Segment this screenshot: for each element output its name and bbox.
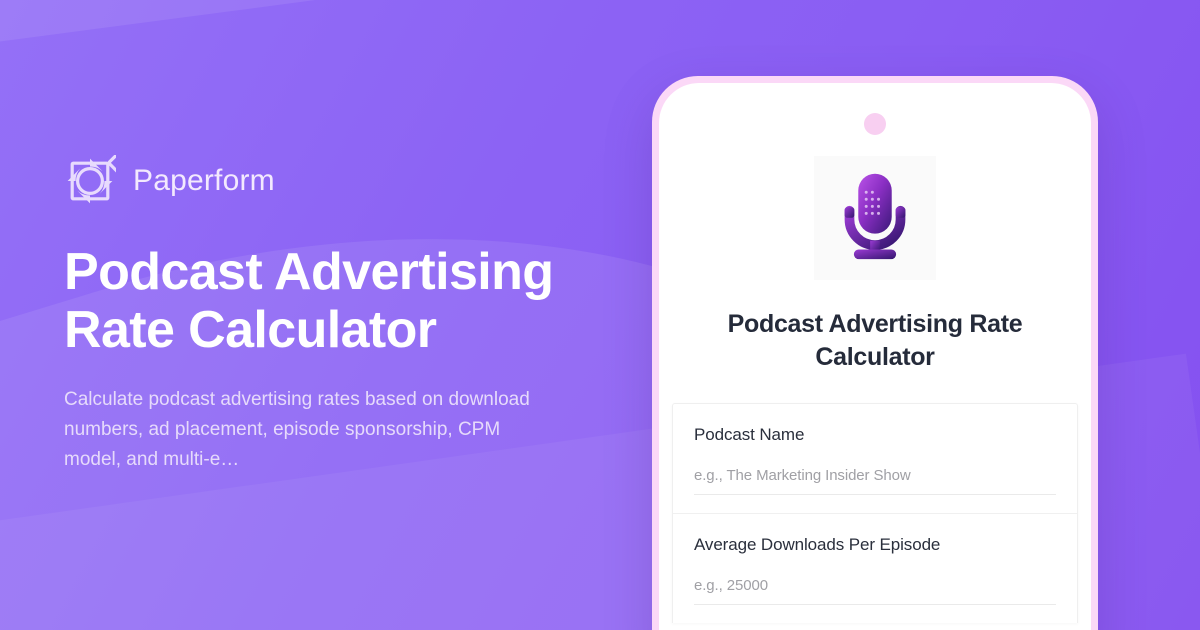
paperform-logo-icon (64, 155, 116, 207)
phone-screen: Podcast Advertising Rate Calculator Podc… (659, 83, 1091, 630)
app-icon-tile (814, 156, 936, 280)
brand-lockup: Paperform (64, 155, 644, 207)
form-title: Podcast Advertising Rate Calculator (685, 308, 1065, 373)
phone-mockup: Podcast Advertising Rate Calculator Podc… (652, 76, 1098, 630)
field-spacer (694, 495, 1056, 513)
field-spacer (694, 605, 1056, 623)
form-card: Podcast Name e.g., The Marketing Insider… (672, 403, 1078, 623)
microphone-icon (831, 170, 919, 267)
field-label: Podcast Name (694, 425, 1056, 445)
brand-name: Paperform (133, 164, 275, 198)
form-field-average-downloads: Average Downloads Per Episode e.g., 2500… (673, 514, 1077, 623)
hero-content: Paperform Podcast Advertising Rate Calcu… (64, 0, 644, 630)
podcast-name-input[interactable]: e.g., The Marketing Insider Show (694, 467, 1056, 495)
form-field-podcast-name: Podcast Name e.g., The Marketing Insider… (673, 404, 1077, 514)
camera-dot-icon (864, 113, 886, 135)
field-label: Average Downloads Per Episode (694, 535, 1056, 555)
average-downloads-input[interactable]: e.g., 25000 (694, 577, 1056, 605)
page-title: Podcast Advertising Rate Calculator (64, 243, 644, 359)
page-description: Calculate podcast advertising rates base… (64, 385, 534, 475)
